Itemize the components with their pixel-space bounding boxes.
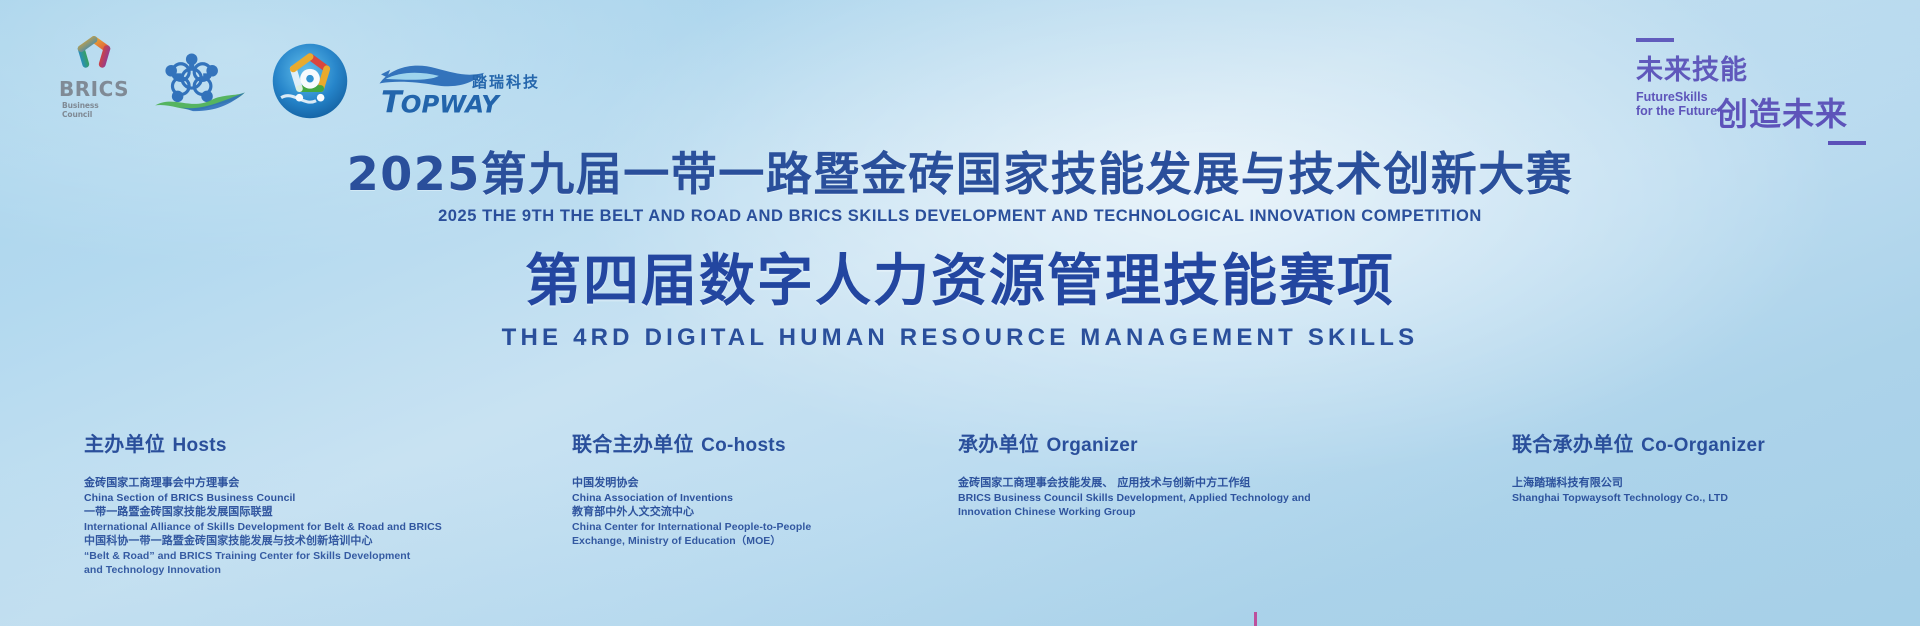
belt-road-alliance-logo <box>152 48 248 119</box>
organizer-heading: 联合主办单位 Co-hosts <box>572 428 902 457</box>
competition-banner: BRICS Business Council <box>0 0 1920 626</box>
organizer-line: 金砖国家工商理事会中方理事会 <box>84 476 514 491</box>
main-title-en: 2025 THE 9TH THE BELT AND ROAD AND BRICS… <box>0 207 1920 226</box>
organizer-line: 上海踏瑞科技有限公司 <box>1512 476 1892 491</box>
organizer-heading-cn: 联合主办单位 <box>572 432 694 456</box>
organizer-heading: 承办单位 Organizer <box>958 428 1388 457</box>
organizer-line: 一带一路暨金砖国家技能发展国际联盟 <box>84 505 514 520</box>
organizer-line: China Section of BRICS Business Council <box>84 491 514 506</box>
organizer-line: China Center for International People-to… <box>572 520 902 535</box>
organizer-list: 金砖国家工商理事会技能发展、 应用技术与创新中方工作组 BRICS Busine… <box>958 476 1388 520</box>
organizer-line: 中国科协一带一路暨金砖国家技能发展与技术创新培训中心 <box>84 534 514 549</box>
svg-text:OPWAY: OPWAY <box>401 89 501 118</box>
organizer-list: 金砖国家工商理事会中方理事会 China Section of BRICS Bu… <box>84 476 514 578</box>
organizer-sections: 主办单位 Hosts 金砖国家工商理事会中方理事会 China Section … <box>0 428 1920 608</box>
brics-star-icon <box>71 34 117 78</box>
organizer-heading-cn: 主办单位 <box>84 432 165 456</box>
topway-cn-wordmark: 踏瑞科技 <box>472 71 540 92</box>
futureskills-cn-bottom: 创造未来 <box>1716 89 1848 135</box>
organizer-line: “Belt & Road” and BRICS Training Center … <box>84 549 514 564</box>
organizer-column-organizer: 承办单位 Organizer 金砖国家工商理事会技能发展、 应用技术与创新中方工… <box>958 428 1388 520</box>
logo-strip: BRICS Business Council <box>62 34 540 119</box>
organizer-heading-en: Organizer <box>1046 435 1137 456</box>
organizer-column-coorganizer: 联合承办单位 Co-Organizer 上海踏瑞科技有限公司 Shanghai … <box>1512 428 1892 505</box>
organizer-heading-cn: 联合承办单位 <box>1512 432 1634 456</box>
organizer-list: 中国发明协会 China Association of Inventions 教… <box>572 476 902 549</box>
dragon-swoosh-icon <box>380 66 485 87</box>
organizer-line: 中国发明协会 <box>572 476 902 491</box>
futureskills-en-line2: for the Future <box>1636 104 1717 118</box>
futureskills-en: FutureSkills for the Future <box>1636 90 1717 118</box>
event-title-en: THE 4RD DIGITAL HUMAN RESOURCE MANAGEMEN… <box>0 324 1920 352</box>
futureskills-en-line1: FutureSkills <box>1636 90 1717 104</box>
organizer-line: and Technology Innovation <box>84 563 514 578</box>
dash-bottom-decoration <box>1828 141 1866 145</box>
brics-business-council-logo: BRICS Business Council <box>62 34 126 119</box>
event-title-cn: 第四届数字人力资源管理技能赛项 <box>0 250 1920 314</box>
organizer-line: Innovation Chinese Working Group <box>958 505 1388 520</box>
title-block: 2025第九届一带一路暨金砖国家技能发展与技术创新大赛 2025 THE 9TH… <box>0 148 1920 352</box>
organizer-heading-en: Hosts <box>172 435 226 456</box>
organizer-line: International Alliance of Skills Develop… <box>84 520 514 535</box>
topway-logo: T OPWAY 踏瑞科技 <box>378 57 540 119</box>
bottom-pink-marker <box>1254 612 1257 626</box>
organizer-heading: 联合承办单位 Co-Organizer <box>1512 428 1892 457</box>
brics-wordmark: BRICS <box>59 79 129 100</box>
main-title-cn: 2025第九届一带一路暨金砖国家技能发展与技术创新大赛 <box>0 148 1920 200</box>
organizer-column-hosts: 主办单位 Hosts 金砖国家工商理事会中方理事会 China Section … <box>84 428 514 578</box>
organizer-line: China Association of Inventions <box>572 491 902 506</box>
futureskills-cn-top: 未来技能 <box>1636 48 1748 87</box>
brics-sub-wordmark: Business Council <box>62 101 126 119</box>
organizer-line: 金砖国家工商理事会技能发展、 应用技术与创新中方工作组 <box>958 476 1388 491</box>
organizer-line: 教育部中外人文交流中心 <box>572 505 902 520</box>
alliance-knot-icon <box>152 48 248 114</box>
skills-training-center-logo <box>272 43 348 119</box>
organizer-line: BRICS Business Council Skills Developmen… <box>958 491 1388 506</box>
organizer-list: 上海踏瑞科技有限公司 Shanghai Topwaysoft Technolog… <box>1512 476 1892 505</box>
futureskills-mark: 未来技能 FutureSkills for the Future 创造未来 <box>1622 34 1872 142</box>
star-gear-circle-icon <box>272 43 348 119</box>
organizer-heading-en: Co-Organizer <box>1641 435 1765 456</box>
organizer-heading-cn: 承办单位 <box>958 432 1039 456</box>
organizer-heading: 主办单位 Hosts <box>84 428 514 457</box>
organizer-column-cohosts: 联合主办单位 Co-hosts 中国发明协会 China Association… <box>572 428 902 549</box>
dash-top-decoration <box>1636 38 1674 42</box>
organizer-line: Exchange, Ministry of Education（MOE） <box>572 534 902 549</box>
organizer-line: Shanghai Topwaysoft Technology Co., LTD <box>1512 491 1892 506</box>
organizer-heading-en: Co-hosts <box>701 435 786 456</box>
